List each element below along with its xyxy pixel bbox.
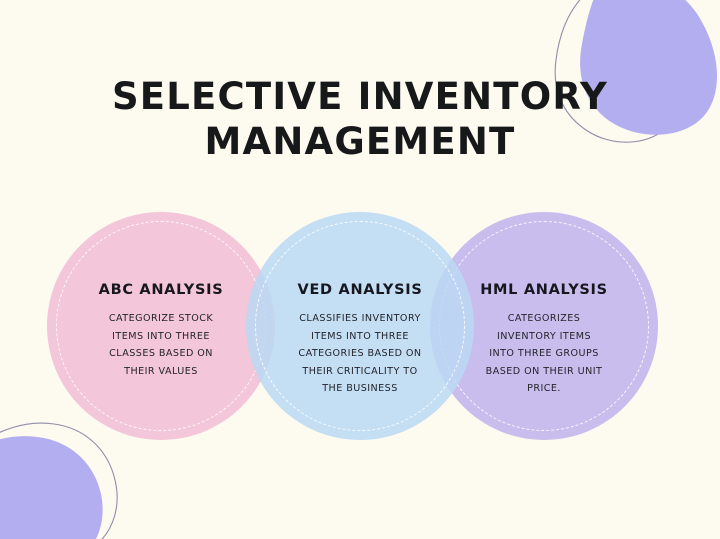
slide-canvas: SELECTIVE INVENTORY MANAGEMENT ABC ANALY… — [0, 0, 720, 539]
venn-label-abc: ABC ANALYSIS CATEGORIZE STOCK ITEMS INTO… — [47, 282, 275, 380]
venn-label-hml: HML ANALYSIS CATEGORIZES INVENTORY ITEMS… — [430, 282, 658, 398]
venn-diagram: ABC ANALYSIS CATEGORIZE STOCK ITEMS INTO… — [0, 0, 720, 539]
venn-heading-hml: HML ANALYSIS — [430, 282, 658, 298]
venn-description-abc: CATEGORIZE STOCK ITEMS INTO THREE CLASSE… — [47, 310, 275, 380]
venn-description-abc-line-2: ITEMS INTO THREE — [47, 328, 275, 346]
venn-description-hml-line-4: BASED ON THEIR UNIT — [430, 363, 658, 381]
venn-description-abc-line-1: CATEGORIZE STOCK — [47, 310, 275, 328]
venn-description-hml-line-5: PRICE. — [430, 380, 658, 398]
venn-heading-abc: ABC ANALYSIS — [47, 282, 275, 298]
venn-description-hml-line-1: CATEGORIZES — [430, 310, 658, 328]
venn-description-hml-line-3: INTO THREE GROUPS — [430, 345, 658, 363]
venn-description-hml: CATEGORIZES INVENTORY ITEMS INTO THREE G… — [430, 310, 658, 398]
venn-description-hml-line-2: INVENTORY ITEMS — [430, 328, 658, 346]
venn-description-abc-line-3: CLASSES BASED ON — [47, 345, 275, 363]
venn-description-abc-line-4: THEIR VALUES — [47, 363, 275, 381]
